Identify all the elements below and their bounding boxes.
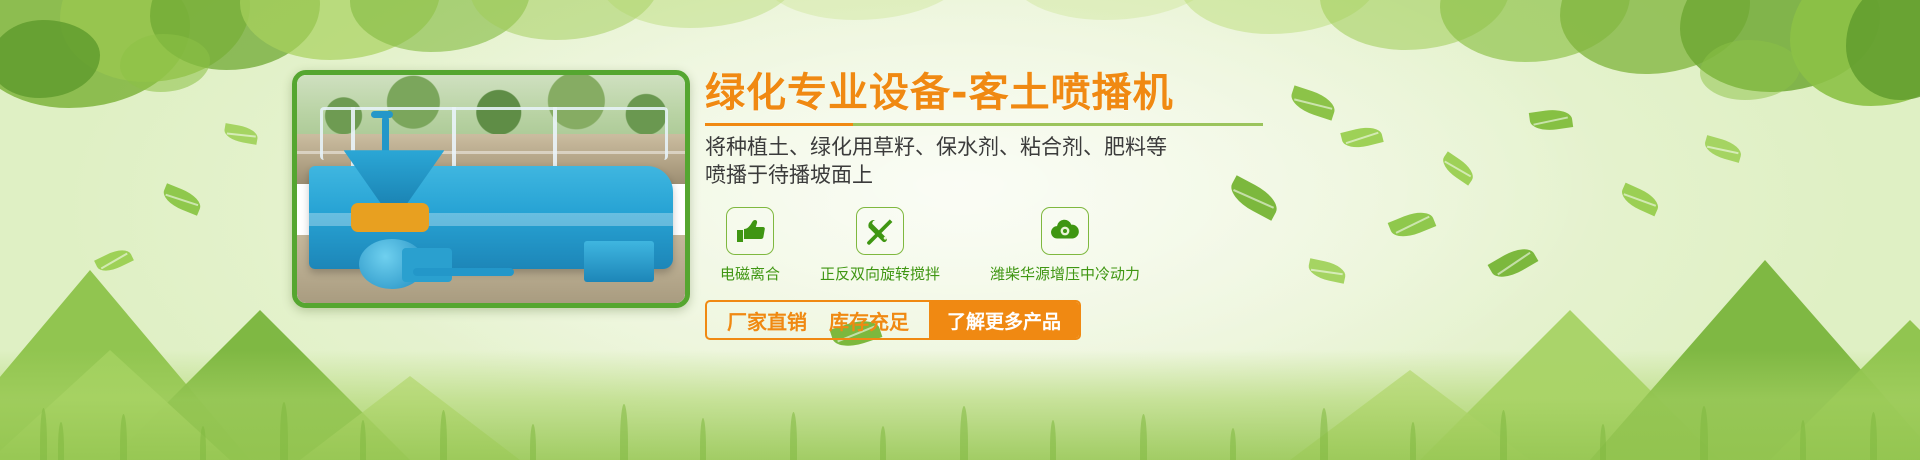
product-photo-image — [297, 75, 685, 303]
subtitle-line-2: 喷播于待播坡面上 — [705, 162, 1405, 190]
promo-banner: 绿化专业设备-客土喷播机 将种植土、绿化用草籽、保水剂、粘合剂、肥料等 喷播于待… — [0, 0, 1920, 460]
feature-list: 电磁离合 正反双向旋转搅拌 — [705, 207, 1405, 284]
thumbs-up-icon — [726, 207, 774, 255]
cta-slogans: 厂家直销 库存充足 — [707, 302, 929, 338]
engine-power-icon — [1041, 207, 1089, 255]
title-divider — [705, 123, 1263, 126]
banner-content: 绿化专业设备-客土喷播机 将种植土、绿化用草籽、保水剂、粘合剂、肥料等 喷播于待… — [705, 72, 1405, 340]
cta-slogan-factory-direct: 厂家直销 — [727, 306, 807, 335]
feature-item-weichai-power[interactable]: 潍柴华源增压中冷动力 — [965, 207, 1165, 284]
feature-item-bidirectional-mixing[interactable]: 正反双向旋转搅拌 — [795, 207, 965, 284]
feature-label: 正反双向旋转搅拌 — [820, 263, 940, 284]
page-title: 绿化专业设备-客土喷播机 — [705, 72, 1405, 114]
feature-label: 电磁离合 — [720, 263, 780, 284]
wrench-screwdriver-icon — [856, 207, 904, 255]
feature-item-electromagnetic-clutch[interactable]: 电磁离合 — [705, 207, 795, 284]
learn-more-button[interactable]: 了解更多产品 — [929, 302, 1079, 338]
feature-label: 潍柴华源增压中冷动力 — [990, 263, 1140, 284]
cta-bar: 厂家直销 库存充足 了解更多产品 — [705, 300, 1081, 340]
cta-slogan-stock: 库存充足 — [829, 306, 909, 335]
product-photo[interactable] — [292, 70, 690, 308]
subtitle-line-1: 将种植土、绿化用草籽、保水剂、粘合剂、肥料等 — [705, 134, 1405, 162]
